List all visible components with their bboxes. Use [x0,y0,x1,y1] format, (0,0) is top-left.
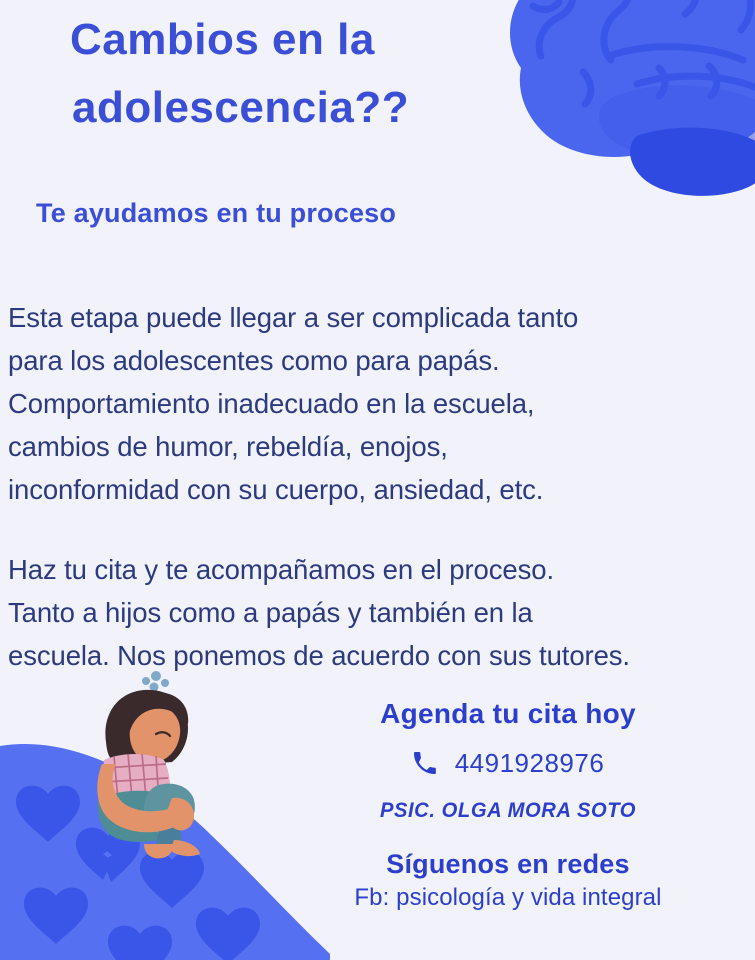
poster-title: Cambios en la adolescencia?? [70,6,500,142]
professional-name: PSIC. OLGA MORA SOTO [272,799,744,823]
cta-heading: Agenda tu cita hoy [262,698,754,730]
poster-canvas: Cambios en la adolescencia?? Te ayudamos… [0,0,755,960]
brain-illustration [461,0,755,198]
body-paragraph-1: Esta etapa puede llegar a ser complicada… [8,296,752,511]
phone-number: 4491928976 [455,748,605,779]
title-line-1: Cambios en la [70,6,500,74]
sad-girl-sitting-illustration [60,668,240,868]
poster-subtitle: Te ayudamos en tu proceso [36,198,396,229]
phone-row[interactable]: 4491928976 [262,748,754,779]
body-paragraph-2: Haz tu cita y te acompañamos en el proce… [8,548,755,677]
contact-block: Agenda tu cita hoy 4491928976 PSIC. OLGA… [262,698,754,912]
social-heading: Síguenos en redes [262,849,754,880]
facebook-handle[interactable]: Fb: psicología y vida integral [262,884,754,912]
title-line-2: adolescencia?? [72,74,500,142]
phone-icon [412,751,437,776]
